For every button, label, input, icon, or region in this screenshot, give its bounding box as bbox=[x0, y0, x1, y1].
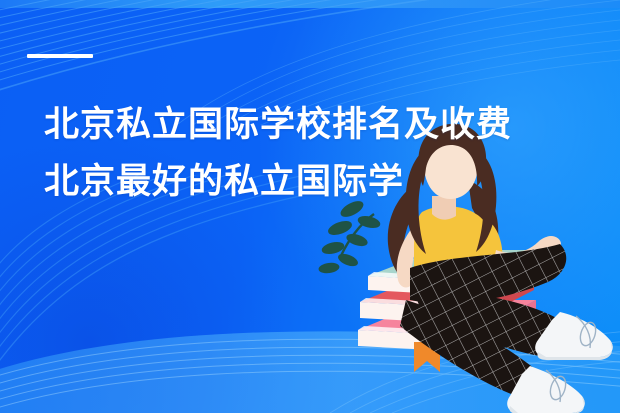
headline-line-1: 北京私立国际学校排名及收费 bbox=[44, 96, 620, 153]
headline-line-2: 北京最好的私立国际学 bbox=[44, 153, 620, 210]
headline-block: 北京私立国际学校排名及收费 北京最好的私立国际学 bbox=[44, 96, 620, 210]
divider-rule bbox=[27, 54, 93, 58]
promo-banner: 北京私立国际学校排名及收费 北京最好的私立国际学 bbox=[0, 0, 620, 413]
